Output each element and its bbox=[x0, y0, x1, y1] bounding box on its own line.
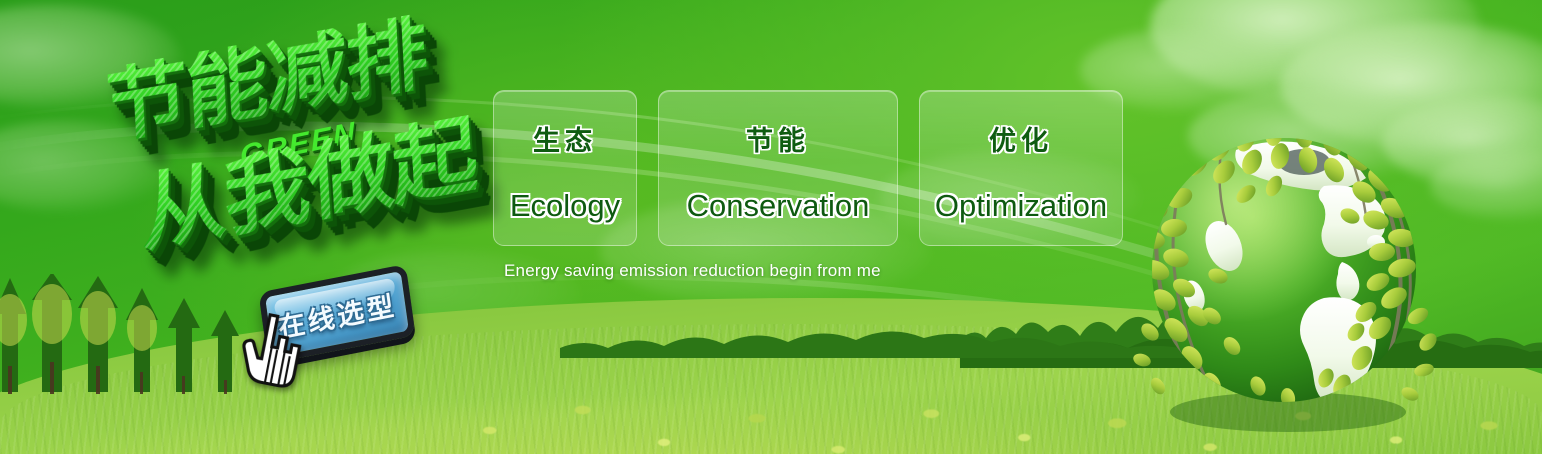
cloud-icon bbox=[1382, 96, 1542, 188]
feature-panel-optimization[interactable]: 优化 Optimization bbox=[919, 90, 1123, 246]
headline-line-1: 节能减排 bbox=[104, 12, 428, 149]
cloud-icon bbox=[1150, 0, 1480, 102]
feature-panel-conservation-cn: 节能 bbox=[746, 119, 810, 158]
feature-panel-optimization-en: Optimization bbox=[935, 188, 1107, 224]
tagline: Energy saving emission reduction begin f… bbox=[504, 261, 881, 281]
cloud-icon bbox=[1188, 88, 1438, 184]
cloud-icon bbox=[0, 4, 180, 108]
grass-texture bbox=[0, 324, 1542, 454]
headline-line-2: 从我做起 bbox=[138, 112, 479, 259]
green-energy-banner: 节能减排 GREEN 从我做起 在线选型 生态 Ecology 节能 Conse… bbox=[0, 0, 1542, 454]
tree-icon bbox=[960, 282, 1542, 368]
cloud-icon bbox=[1430, 150, 1542, 220]
logo-base-block bbox=[90, 113, 351, 160]
headline-logo: 节能减排 GREEN 从我做起 bbox=[92, 34, 492, 264]
feature-panel-ecology[interactable]: 生态 Ecology bbox=[493, 90, 637, 246]
feature-panel-conservation-en: Conservation bbox=[687, 188, 870, 224]
feature-panel-group: 生态 Ecology 节能 Conservation 优化 Optimizati… bbox=[493, 90, 1123, 246]
headline-english-overlay: GREEN bbox=[239, 116, 358, 174]
cloud-icon bbox=[0, 120, 170, 212]
grass-field-icon bbox=[0, 304, 1542, 454]
hill-shape bbox=[0, 298, 1542, 454]
tree-icon bbox=[560, 306, 1200, 358]
feature-panel-conservation[interactable]: 节能 Conservation bbox=[658, 90, 898, 246]
pointing-hand-cursor-icon bbox=[233, 306, 313, 395]
feature-panel-ecology-cn: 生态 bbox=[533, 119, 597, 158]
leafy-green-globe-icon bbox=[1128, 120, 1440, 432]
feature-panel-optimization-cn: 优化 bbox=[989, 119, 1053, 158]
feature-panel-ecology-en: Ecology bbox=[510, 188, 620, 224]
cloud-icon bbox=[1280, 22, 1542, 148]
leaf-litter-texture bbox=[420, 344, 1542, 454]
